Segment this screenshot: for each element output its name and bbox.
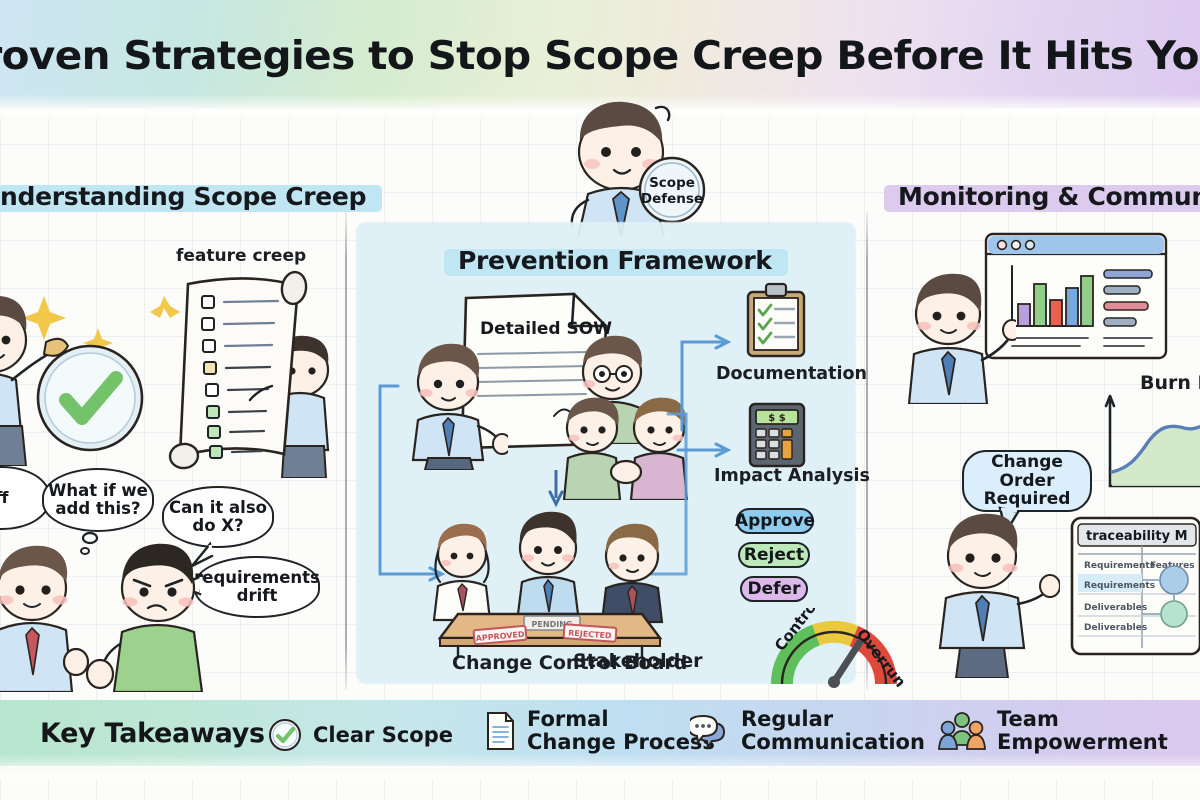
check-circle-icon xyxy=(268,718,302,752)
page-title: Proven Strategies to Stop Scope Creep Be… xyxy=(0,34,1200,79)
decision-pill-approve[interactable]: Approve xyxy=(736,508,814,534)
bar-1 xyxy=(1018,304,1030,326)
bar-4 xyxy=(1066,288,1078,326)
row-3 xyxy=(1104,302,1148,310)
scope-gauge: Controlled Overrun xyxy=(752,608,942,692)
bubble-what-if-text: What if we add this? xyxy=(48,482,148,518)
burn-rate-chart xyxy=(1100,394,1200,506)
decision-pill-reject[interactable]: Reject xyxy=(738,542,810,568)
scope-defense-badge-line1: Scope xyxy=(649,175,695,191)
panel-divider-left xyxy=(345,212,347,690)
change-control-board-label: Change Control Board xyxy=(452,652,687,674)
section-heading-right: Monitoring & Communication xyxy=(888,182,1200,211)
section-heading-right-text: Monitoring & Communication xyxy=(888,180,1200,213)
matrix-row-1: Requirements xyxy=(1084,561,1155,571)
takeaway-clear-scope-label: Clear Scope xyxy=(313,724,453,747)
bubble-can-it-also-text: Can it also do X? xyxy=(169,499,267,535)
takeaway-clear-scope[interactable]: Clear Scope xyxy=(268,718,453,752)
matrix-row-3: Deliverables xyxy=(1084,603,1147,613)
takeaway-team-empowerment-label: Team Empowerment xyxy=(997,708,1168,753)
document-icon xyxy=(484,711,516,751)
calculator-icon: $ $ xyxy=(746,402,808,468)
infographic-canvas: Proven Strategies to Stop Scope Creep Be… xyxy=(0,0,1200,800)
change-control-board-illustration: PENDING APPROVED REJECTED xyxy=(424,508,674,658)
bar-5 xyxy=(1081,276,1093,326)
chat-bubbles-icon xyxy=(690,713,730,749)
bubble-what-if: What if we add this? xyxy=(42,468,154,532)
bubble-change-order-text: Change Order Required xyxy=(964,453,1090,508)
matrix-row-4: Deliverables xyxy=(1084,623,1147,633)
bar-2 xyxy=(1034,284,1046,326)
traceability-matrix-card[interactable]: traceability M Requirements Requirements… xyxy=(1070,516,1200,656)
stakeholders-asking-illustration xyxy=(0,540,270,690)
traceability-matrix-title: traceability M xyxy=(1086,529,1188,544)
section-heading-left-text: Understanding Scope Creep xyxy=(0,180,376,213)
bubble-change-order-required: Change Order Required xyxy=(962,450,1092,512)
hero-character: Scope Defense xyxy=(540,96,720,234)
section-heading-left: Understanding Scope Creep xyxy=(0,182,376,211)
bubble-can-it-also: Can it also do X? xyxy=(162,486,274,548)
row-2 xyxy=(1104,286,1140,294)
section-heading-center-text: Prevention Framework xyxy=(448,244,782,277)
presenter-character xyxy=(896,268,1016,404)
requirements-scroll-illustration xyxy=(144,268,344,478)
impact-analysis-label: Impact Analysis xyxy=(714,466,870,486)
reporting-character xyxy=(930,508,1060,678)
decision-pill-approve-label: Approve xyxy=(735,511,815,531)
takeaway-regular-communication-label: Regular Communication xyxy=(741,708,925,753)
decision-pill-defer[interactable]: Defer xyxy=(740,576,808,602)
takeaway-team-empowerment[interactable]: Team Empowerment xyxy=(938,708,1168,753)
section-heading-center: Prevention Framework xyxy=(448,246,782,275)
row-1 xyxy=(1104,270,1152,278)
burn-rate-label: Burn Rate xyxy=(1140,372,1200,394)
takeaway-formal-change-process[interactable]: Formal Change Process xyxy=(484,708,715,753)
decision-pill-reject-label: Reject xyxy=(744,545,804,565)
takeaway-formal-change-process-label: Formal Change Process xyxy=(527,708,715,753)
row-4 xyxy=(1104,318,1136,326)
key-takeaways-title: Key Takeaways xyxy=(40,718,265,749)
scope-defense-badge-line2: Defense xyxy=(641,191,703,207)
decision-pill-defer-label: Defer xyxy=(748,579,801,599)
bar-3 xyxy=(1050,300,1062,326)
takeaway-regular-communication[interactable]: Regular Communication xyxy=(690,708,925,753)
bubble-small-tweak-text: ff xyxy=(0,489,8,506)
calculator-display: $ $ xyxy=(768,413,785,424)
clear-scope-illustration xyxy=(0,276,148,466)
people-group-icon xyxy=(938,711,986,751)
clipboard-icon xyxy=(742,282,810,360)
documentation-label: Documentation xyxy=(716,364,867,384)
matrix-row-2: Requirements xyxy=(1084,581,1155,591)
title-banner: Proven Strategies to Stop Scope Creep Be… xyxy=(0,0,1200,108)
feature-creep-label: feature creep xyxy=(176,246,306,266)
